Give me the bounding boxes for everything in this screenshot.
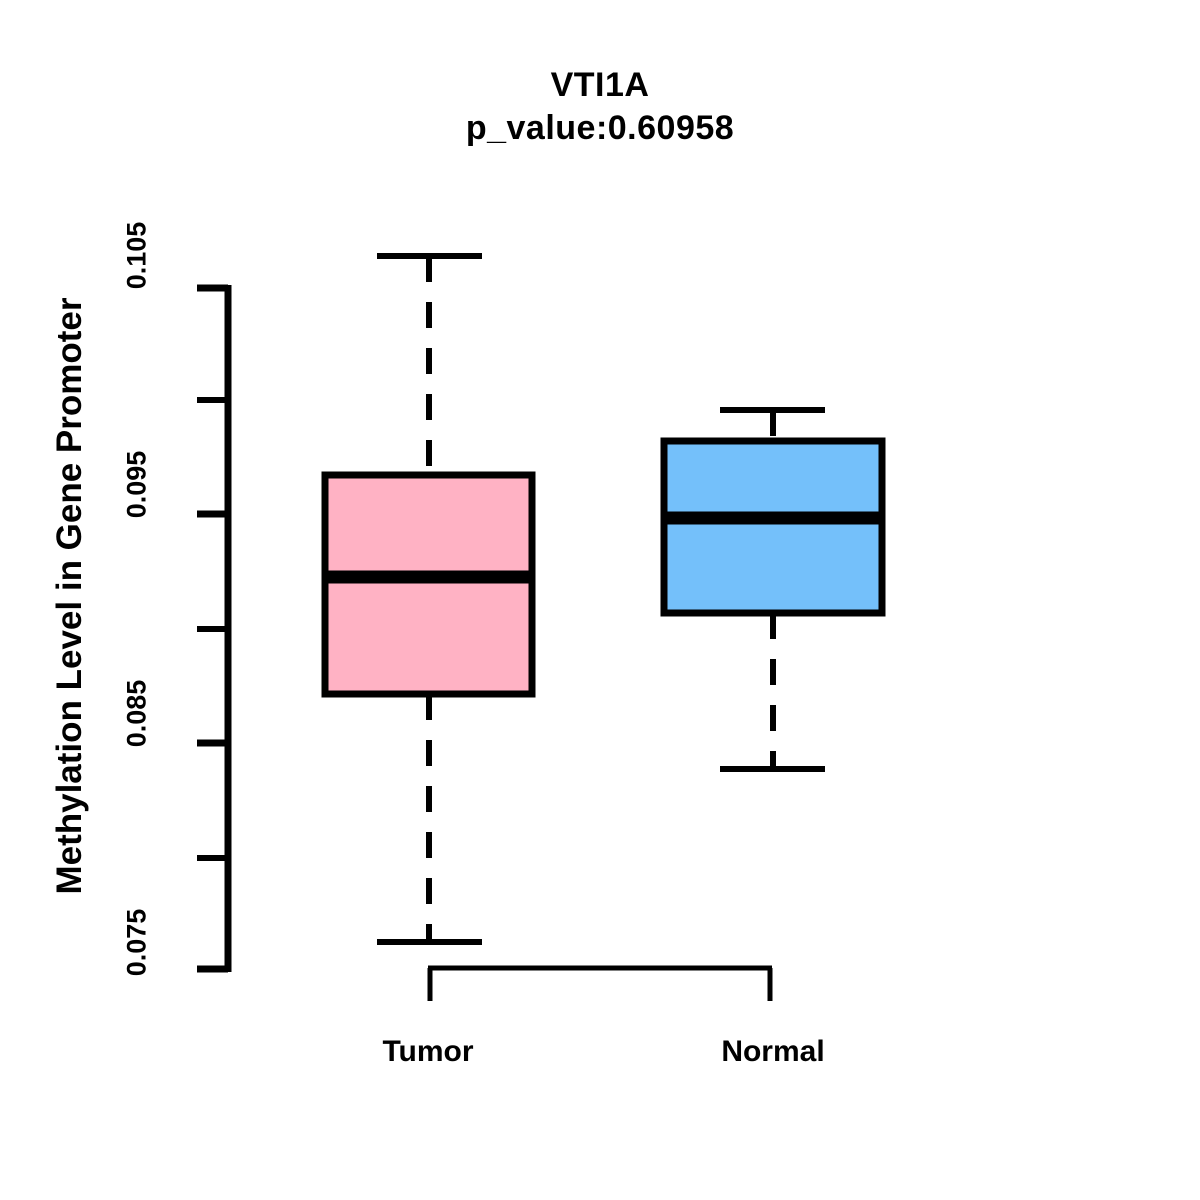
tumor-box-rect — [325, 475, 532, 694]
y-axis — [197, 285, 228, 972]
box-tumor[interactable] — [323, 256, 534, 942]
boxplot-figure: VTI1A p_value:0.60958 Methylation Level … — [0, 0, 1200, 1200]
normal-box-rect — [664, 441, 882, 613]
box-normal[interactable] — [662, 410, 884, 769]
x-axis — [428, 968, 772, 1001]
plot-canvas — [0, 0, 1200, 1200]
